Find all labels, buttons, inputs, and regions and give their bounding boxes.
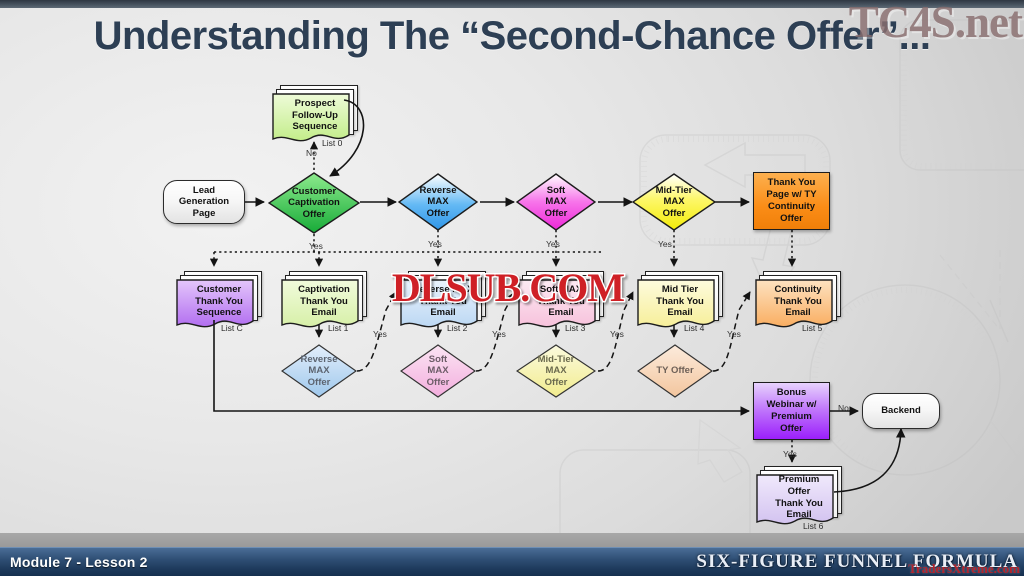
slide-canvas: Understanding The “Second-Chance Offer”.… xyxy=(0,0,1024,576)
node-label: Lead Generation Page xyxy=(179,185,229,220)
node-mid-tier-max-offer[interactable]: Mid-Tier MAX Offer xyxy=(632,173,716,231)
edge-label-no-followup: No xyxy=(306,148,317,158)
edge-label-yes-midtier: Yes xyxy=(658,239,672,249)
list-tag-3: List 3 xyxy=(565,323,585,333)
list-tag-c: List C xyxy=(221,323,243,333)
edge-label-yes-soft2: Yes xyxy=(492,329,506,339)
watermark-footer: TradersXtreme.com xyxy=(908,561,1020,576)
node-label: Backend xyxy=(881,405,921,417)
list-tag-1: List 1 xyxy=(328,323,348,333)
list-tag-6: List 6 xyxy=(803,521,823,531)
node-reverse-max-offer-2[interactable]: Reverse MAX Offer xyxy=(281,344,357,398)
list-tag-5: List 5 xyxy=(802,323,822,333)
edge-label-no-backend: No xyxy=(838,403,849,413)
footer-bar: Module 7 - Lesson 2 SIX-FIGURE FUNNEL FO… xyxy=(0,547,1024,576)
node-reverse-max-offer[interactable]: Reverse MAX Offer xyxy=(398,173,478,231)
list-tag-4: List 4 xyxy=(684,323,704,333)
node-mid-tier-max-offer-2[interactable]: Mid-Tier MAX Offer xyxy=(516,344,596,398)
node-label: Thank You Page w/ TY Continuity Offer xyxy=(766,177,816,224)
edge-label-yes-premium: Yes xyxy=(783,449,797,459)
module-lesson-label: Module 7 - Lesson 2 xyxy=(10,554,148,570)
edge-label-yes-mid2: Yes xyxy=(610,329,624,339)
node-customer-captivation-offer[interactable]: Customer Captivation Offer xyxy=(268,172,360,234)
node-thank-you-page-continuity[interactable]: Thank You Page w/ TY Continuity Offer xyxy=(753,172,830,230)
edge-label-yes-ty2: Yes xyxy=(727,329,741,339)
edge-label-yes-captivation: Yes xyxy=(309,241,323,251)
edge-label-yes-rev2: Yes xyxy=(373,329,387,339)
edge-label-yes-reverse: Yes xyxy=(428,239,442,249)
node-soft-max-offer[interactable]: Soft MAX Offer xyxy=(516,173,596,231)
lower-gray-band xyxy=(0,533,1024,547)
node-label: Bonus Webinar w/ Premium Offer xyxy=(767,387,817,434)
node-backend[interactable]: Backend xyxy=(862,393,940,429)
list-tag-2: List 2 xyxy=(447,323,467,333)
node-ty-offer[interactable]: TY Offer xyxy=(637,344,713,398)
node-soft-max-offer-2[interactable]: Soft MAX Offer xyxy=(400,344,476,398)
node-lead-generation-page[interactable]: Lead Generation Page xyxy=(163,180,245,224)
node-bonus-webinar-premium-offer[interactable]: Bonus Webinar w/ Premium Offer xyxy=(753,382,830,440)
watermark-center: DLSUB.COM xyxy=(364,264,652,310)
edge-label-yes-soft: Yes xyxy=(546,239,560,249)
list-tag-0: List 0 xyxy=(322,138,342,148)
